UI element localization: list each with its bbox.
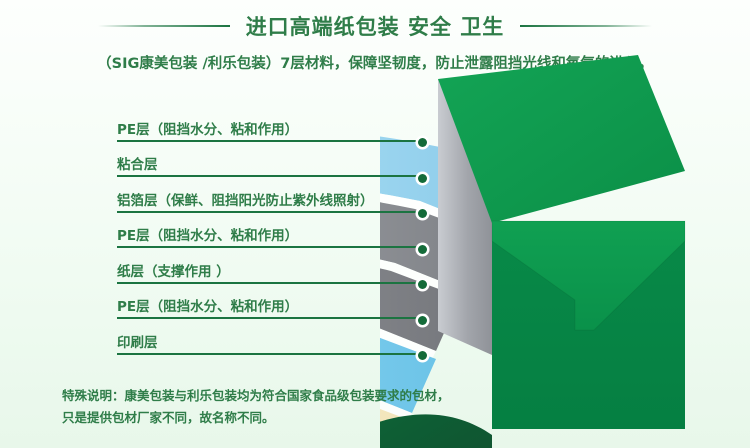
page-title: 进口高端纸包装 安全 卫生 (246, 11, 505, 41)
leader-line (117, 140, 425, 142)
footnote: 特殊说明：康美包装与利乐包装均为符合国家食品级包装要求的包材， 只是提供包材厂家… (62, 385, 482, 429)
layer-row[interactable]: PE层（阻挡水分、粘和作用） (0, 108, 450, 144)
packaging-layers-infographic: 进口高端纸包装 安全 卫生 （SIG康美包装 /利乐包装）7层材料，保障坚韧度，… (0, 0, 750, 448)
leader-line (117, 175, 425, 177)
layer-label: 铝箔层（保鲜、阻挡阳光防止紫外线照射） (117, 189, 374, 209)
decorative-rule-left-icon (98, 25, 230, 27)
leader-line (117, 353, 425, 355)
leader-line (117, 246, 425, 248)
layer-row[interactable]: PE层（阻挡水分、粘和作用） (0, 215, 450, 251)
footnote-line-1: 特殊说明：康美包装与利乐包装均为符合国家食品级包装要求的包材， (62, 385, 482, 407)
leader-dot-icon (418, 351, 427, 360)
layer-row[interactable]: 印刷层 (0, 321, 450, 357)
layer-label: PE层（阻挡水分、粘和作用） (117, 295, 298, 315)
layer-row[interactable]: PE层（阻挡水分、粘和作用） (0, 286, 450, 322)
layer-label: 纸层（支撑作用 ） (117, 260, 230, 280)
layer-label-list: PE层（阻挡水分、粘和作用） 粘合层 铝箔层（保鲜、阻挡阳光防止紫外线照射） P… (0, 108, 450, 357)
leader-line (117, 211, 425, 213)
layer-row[interactable]: 粘合层 (0, 144, 450, 180)
layer-label: PE层（阻挡水分、粘和作用） (117, 118, 298, 138)
layer-label: 粘合层 (117, 153, 158, 173)
title-row: 进口高端纸包装 安全 卫生 (0, 10, 750, 42)
layer-label: PE层（阻挡水分、粘和作用） (117, 224, 298, 244)
decorative-rule-right-icon (520, 25, 652, 27)
leader-line (117, 282, 425, 284)
footnote-line-2: 只是提供包材厂家不同，故名称不同。 (62, 407, 482, 429)
layer-row[interactable]: 纸层（支撑作用 ） (0, 250, 450, 286)
layer-row[interactable]: 铝箔层（保鲜、阻挡阳光防止紫外线照射） (0, 179, 450, 215)
leader-line (117, 317, 425, 319)
layer-label: 印刷层 (117, 331, 158, 351)
